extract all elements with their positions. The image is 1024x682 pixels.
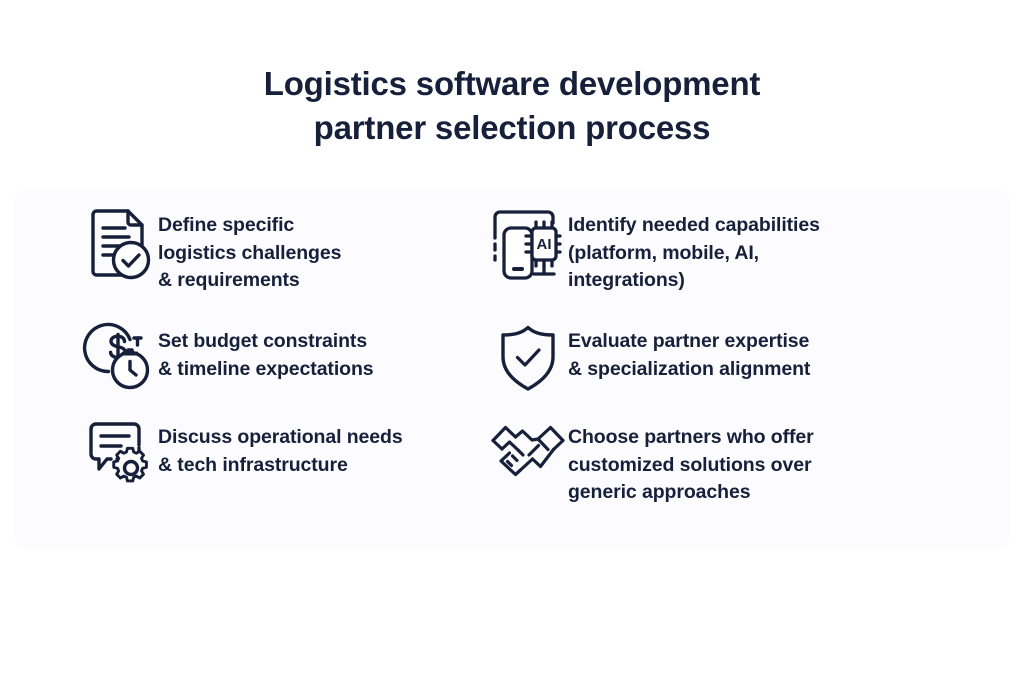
list-item: Set budget constraints & timeline expect… xyxy=(82,322,374,404)
page-title-line-1: Logistics software development xyxy=(0,62,1024,106)
list-item-text: Identify needed capabilities (platform, … xyxy=(566,206,820,295)
page-title-line-2: partner selection process xyxy=(0,106,1024,150)
infographic-root: Logistics software development partner s… xyxy=(0,0,1024,682)
document-check-icon xyxy=(82,206,158,288)
list-item: Discuss operational needs & tech infrast… xyxy=(82,418,403,500)
list-item-text: Set budget constraints & timeline expect… xyxy=(158,322,374,383)
dollar-coin-stopwatch-icon xyxy=(82,322,158,404)
list-item: Define specific logistics challenges & r… xyxy=(82,206,341,295)
page-title: Logistics software development partner s… xyxy=(0,62,1024,150)
list-item-text: Discuss operational needs & tech infrast… xyxy=(158,418,403,479)
list-item-text: Evaluate partner expertise & specializat… xyxy=(566,322,810,383)
list-item: Evaluate partner expertise & specializat… xyxy=(490,322,810,404)
list-item: AI Identify needed capabilities (platfor… xyxy=(490,206,820,295)
ai-chip-mobile-icon: AI xyxy=(490,206,566,288)
handshake-icon xyxy=(490,418,566,500)
shield-check-icon xyxy=(490,322,566,404)
chat-bubble-gear-icon xyxy=(82,418,158,500)
list-item-text: Define specific logistics challenges & r… xyxy=(158,206,341,295)
items-grid: Define specific logistics challenges & r… xyxy=(14,188,1010,550)
list-item-text: Choose partners who offer customized sol… xyxy=(566,418,814,507)
list-item: Choose partners who offer customized sol… xyxy=(490,418,814,507)
ai-chip-label: AI xyxy=(537,236,552,253)
